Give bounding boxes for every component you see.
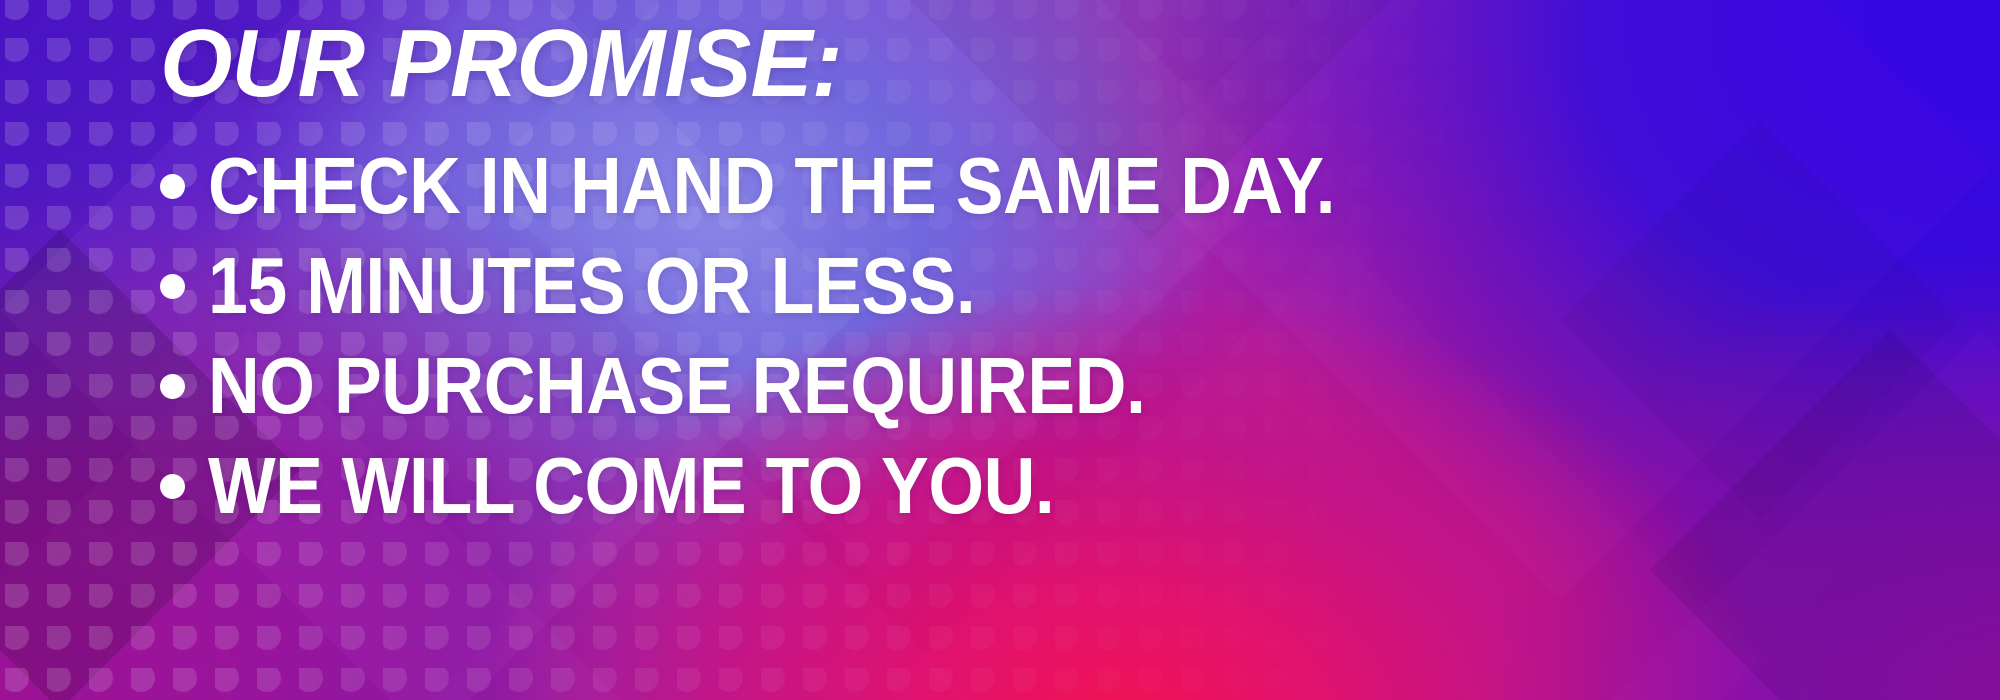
banner-content: OUR PROMISE: CHECK IN HAND THE SAME DAY.… — [0, 0, 2000, 700]
bullet-point-icon — [160, 274, 185, 299]
promotional-banner: OUR PROMISE: CHECK IN HAND THE SAME DAY.… — [0, 0, 2000, 700]
list-item: NO PURCHASE REQUIRED. — [0, 336, 1467, 436]
promise-text: WE WILL COME TO YOU. — [208, 446, 1054, 526]
bullet-point-icon — [160, 374, 185, 399]
list-item: CHECK IN HAND THE SAME DAY. — [0, 136, 1467, 236]
promise-text: 15 MINUTES OR LESS. — [208, 246, 975, 326]
page-title: OUR PROMISE: — [160, 16, 842, 112]
list-item: WE WILL COME TO YOU. — [0, 436, 1467, 536]
list-item: 15 MINUTES OR LESS. — [0, 236, 1467, 336]
bullet-point-icon — [160, 174, 185, 199]
bullet-point-icon — [160, 474, 185, 499]
promise-list: CHECK IN HAND THE SAME DAY. 15 MINUTES O… — [0, 136, 1467, 536]
promise-text: NO PURCHASE REQUIRED. — [208, 346, 1145, 426]
promise-text: CHECK IN HAND THE SAME DAY. — [208, 146, 1335, 226]
